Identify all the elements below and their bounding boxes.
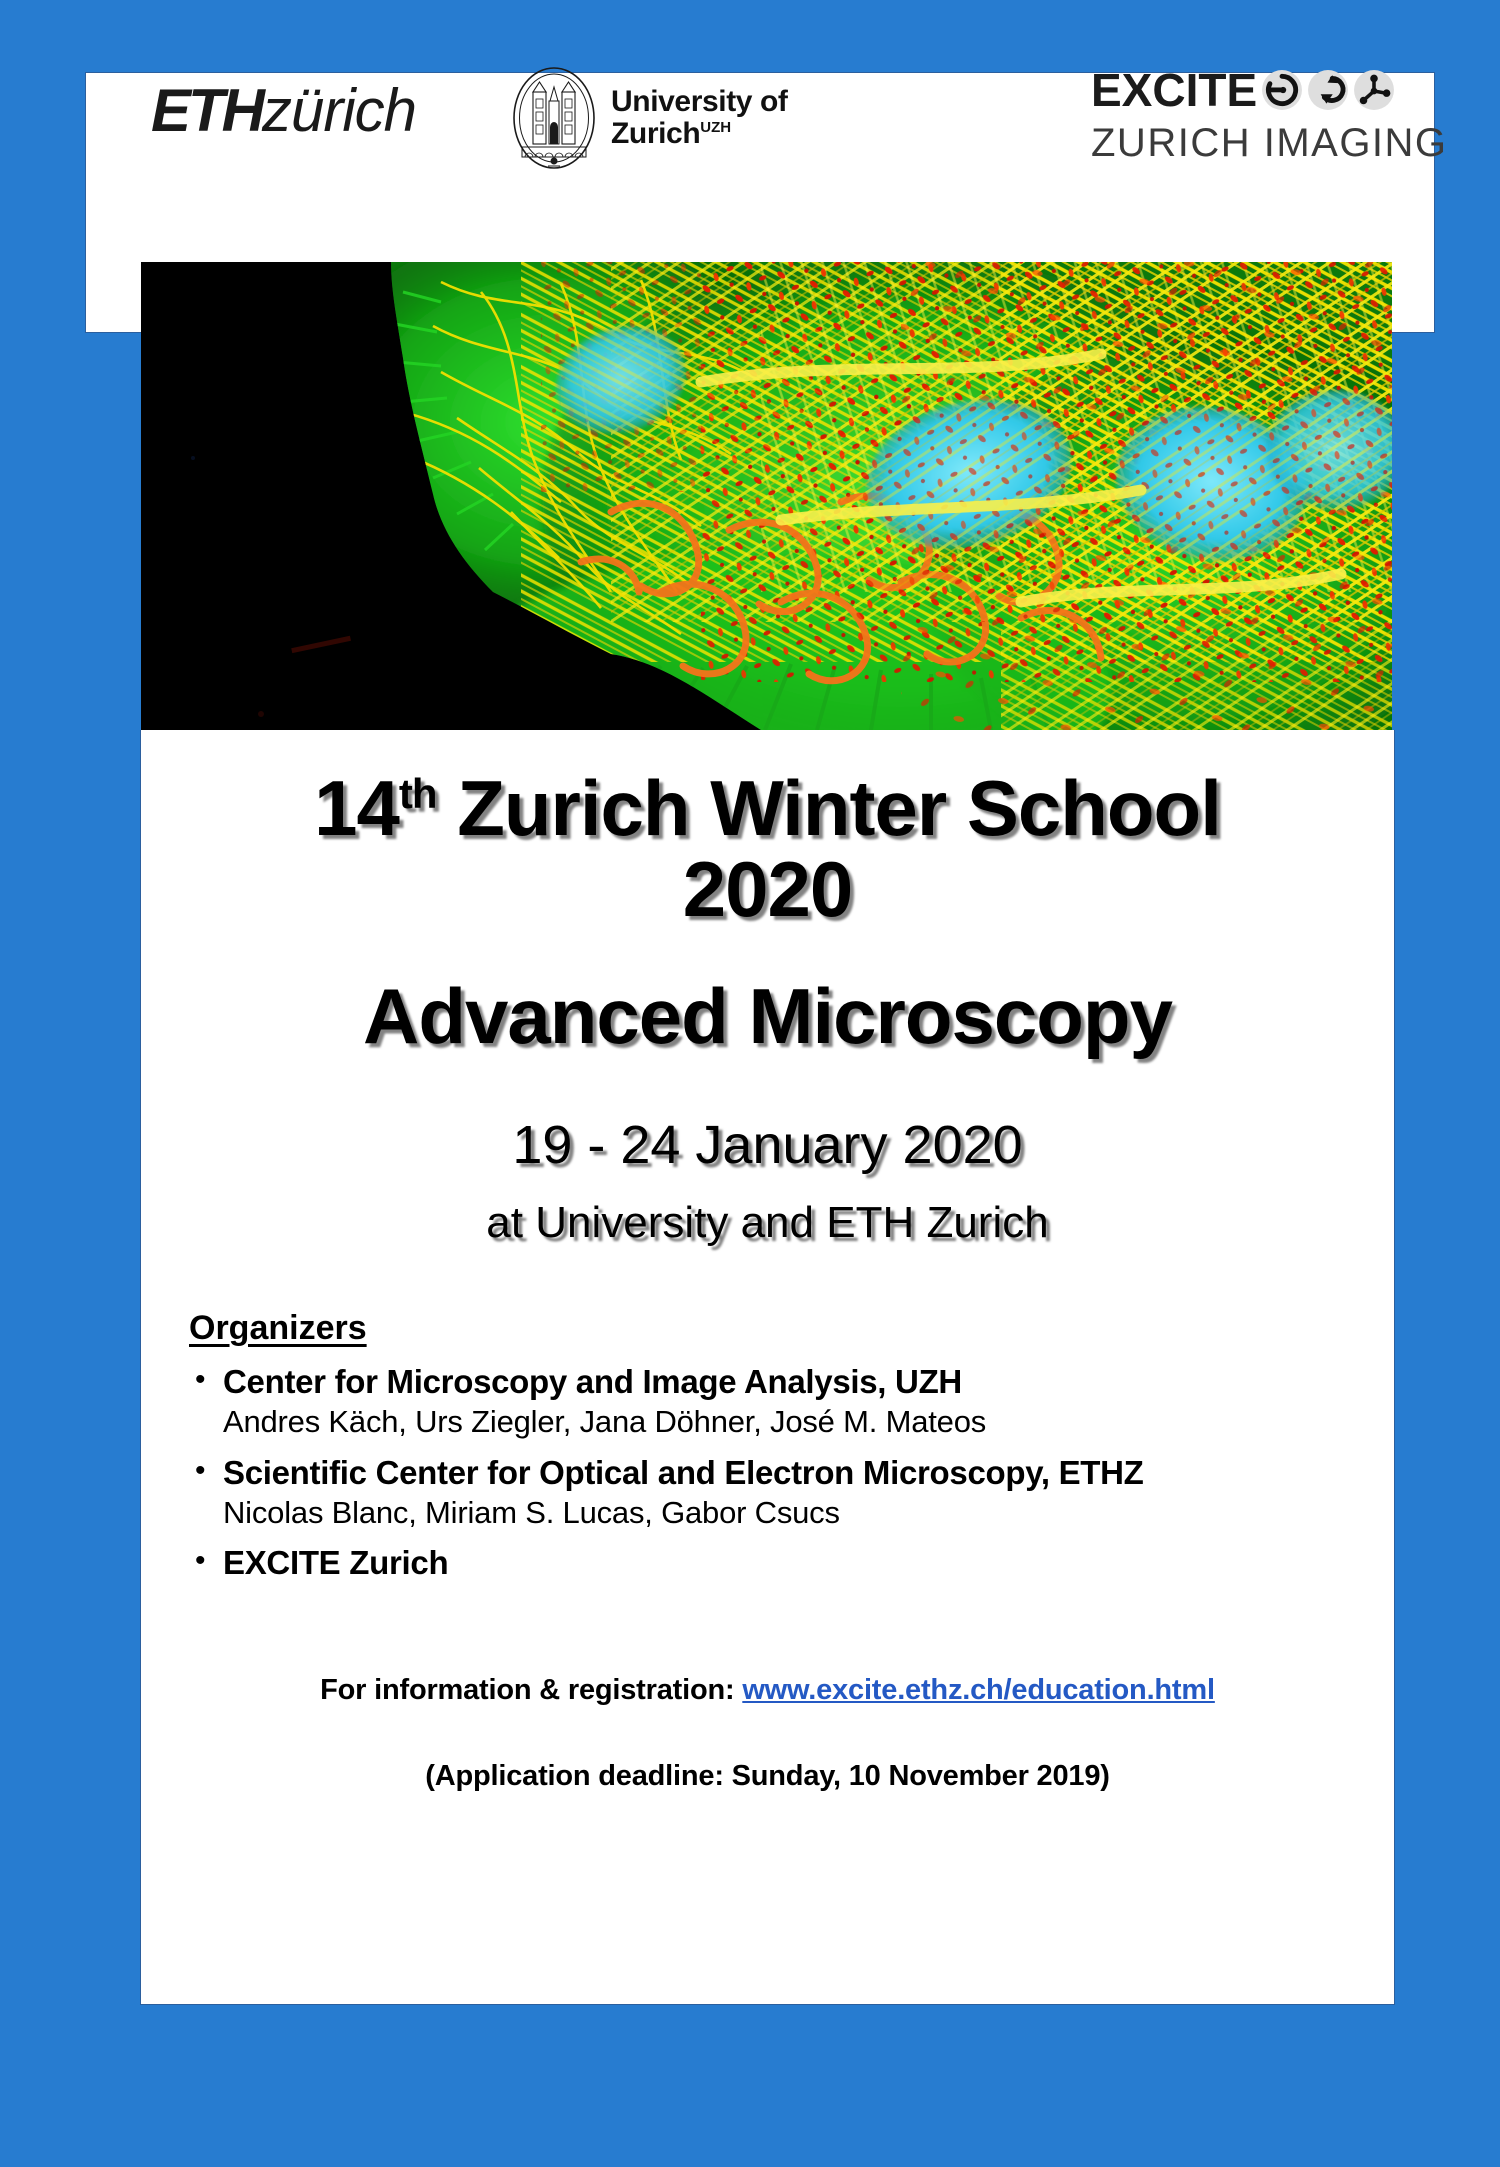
bullet-icon: •	[189, 1453, 223, 1490]
uzh-logo: University of ZurichUZH	[511, 65, 788, 171]
excite-logo-tagline: ZURICH IMAGING	[1091, 121, 1448, 166]
page-title-year: 2020	[683, 845, 853, 933]
page-title: 14th Zurich Winter School2020	[141, 730, 1394, 930]
list-item: • EXCITE Zurich	[189, 1543, 1394, 1583]
overlay-puncta	[841, 382, 1392, 622]
uzh-logo-line2: Zurich	[611, 117, 700, 150]
bullet-icon: •	[189, 1362, 223, 1399]
list-item: • Center for Microscopy and Image Analys…	[189, 1362, 1394, 1443]
molecule-icon	[1353, 69, 1395, 111]
eth-zurich-logo: ETHzürich	[151, 81, 416, 141]
uzh-logo-line2-wrap: ZurichUZH	[611, 118, 788, 150]
organizer-title-line: • Center for Microscopy and Image Analys…	[189, 1362, 1394, 1402]
organizer-people: Andres Käch, Urs Ziegler, Jana Döhner, J…	[189, 1402, 1394, 1442]
page-subtitle: Advanced Microscopy	[141, 930, 1394, 1057]
fluorescence-micrograph-image	[141, 262, 1392, 730]
registration-link[interactable]: www.excite.ethz.ch/education.html	[742, 1674, 1215, 1706]
uzh-logo-text: University of ZurichUZH	[611, 86, 788, 151]
bullet-icon: •	[189, 1543, 223, 1580]
page-title-rest: Zurich Winter School	[437, 764, 1221, 852]
eth-logo-bold: ETH	[151, 77, 262, 144]
page-title-number: 14	[314, 764, 399, 852]
organizer-title: EXCITE Zurich	[223, 1543, 448, 1583]
organizer-title-line: • EXCITE Zurich	[189, 1543, 1394, 1583]
uzh-logo-superscript: UZH	[700, 119, 731, 136]
organizer-title: Scientific Center for Optical and Electr…	[223, 1453, 1144, 1493]
event-dates: 19 - 24 January 2020	[141, 1057, 1394, 1175]
organizer-people: Nicolas Blanc, Miriam S. Lucas, Gabor Cs…	[189, 1493, 1394, 1533]
aperture-icon	[1261, 69, 1303, 111]
organizers-section: Organizers • Center for Microscopy and I…	[141, 1247, 1394, 1583]
eth-logo-light: zürich	[262, 77, 416, 144]
application-deadline: (Application deadline: Sunday, 10 Novemb…	[141, 1736, 1394, 1793]
excite-logo-word: EXCITE	[1091, 63, 1257, 117]
organizer-title: Center for Microscopy and Image Analysis…	[223, 1362, 962, 1402]
micrograph-svg	[141, 262, 1392, 730]
uzh-logo-line1: University of	[611, 86, 788, 118]
event-venue: at University and ETH Zurich	[141, 1176, 1394, 1247]
microscope-icon	[1307, 69, 1349, 111]
organizers-list: • Center for Microscopy and Image Analys…	[189, 1362, 1394, 1583]
registration-info: For information & registration: www.exci…	[141, 1612, 1394, 1707]
organizer-title-line: • Scientific Center for Optical and Elec…	[189, 1453, 1394, 1493]
registration-label: For information & registration:	[320, 1674, 742, 1706]
page-title-ordinal: th	[399, 770, 437, 817]
excite-logo-top-row: EXCITE	[1091, 63, 1448, 117]
poster-body-panel: 14th Zurich Winter School2020 Advanced M…	[140, 730, 1395, 2005]
uzh-seal-icon	[511, 65, 597, 171]
organizers-heading: Organizers	[189, 1309, 1394, 1348]
excite-logo: EXCITE	[1091, 63, 1448, 166]
list-item: • Scientific Center for Optical and Elec…	[189, 1453, 1394, 1534]
